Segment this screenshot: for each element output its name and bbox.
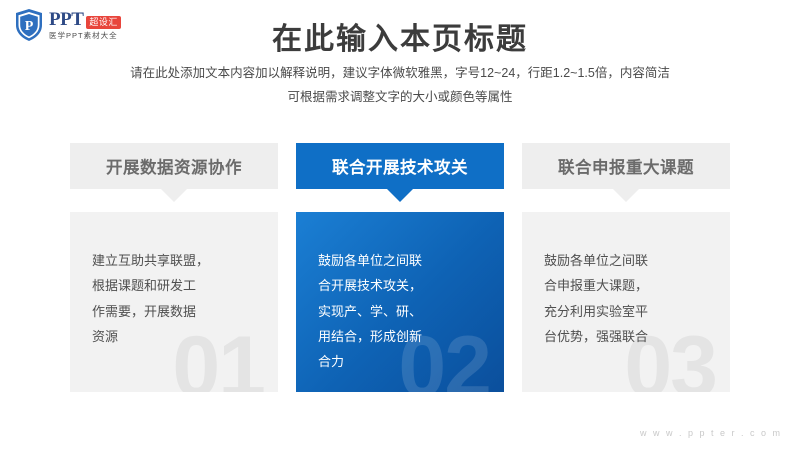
column-3-text: 鼓励各单位之间联 合申报重大课题， 充分利用实验室平 台优势，强强联合 [544, 248, 708, 349]
subtitle-line-1: 请在此处添加文本内容加以解释说明，建议字体微软雅黑，字号12~24，行距1.2~… [0, 62, 800, 86]
column-3-arrow-icon [613, 189, 639, 202]
columns-container: 开展数据资源协作 01 建立互助共享联盟， 根据课题和研发工 作需要，开展数据 … [70, 143, 730, 392]
column-1-text: 建立互助共享联盟， 根据课题和研发工 作需要，开展数据 资源 [92, 248, 256, 349]
column-1-arrow-icon [161, 189, 187, 202]
column-1-heading[interactable]: 开展数据资源协作 [70, 143, 278, 189]
column-2-heading[interactable]: 联合开展技术攻关 [296, 143, 504, 189]
subtitle-line-2: 可根据需求调整文字的大小或颜色等属性 [0, 86, 800, 110]
column-2[interactable]: 联合开展技术攻关 02 鼓励各单位之间联 合开展技术攻关， 实现产、学、研、 用… [296, 143, 504, 392]
column-2-body: 02 鼓励各单位之间联 合开展技术攻关， 实现产、学、研、 用结合，形成创新 合… [296, 212, 504, 392]
column-2-arrow-icon [387, 189, 413, 202]
footer-url: w w w . p p t e r . c o m [640, 428, 782, 438]
column-3[interactable]: 联合申报重大课题 03 鼓励各单位之间联 合申报重大课题， 充分利用实验室平 台… [522, 143, 730, 392]
page-title: 在此输入本页标题 [0, 14, 800, 58]
column-3-body: 03 鼓励各单位之间联 合申报重大课题， 充分利用实验室平 台优势，强强联合 [522, 212, 730, 392]
column-1[interactable]: 开展数据资源协作 01 建立互助共享联盟， 根据课题和研发工 作需要，开展数据 … [70, 143, 278, 392]
column-1-body: 01 建立互助共享联盟， 根据课题和研发工 作需要，开展数据 资源 [70, 212, 278, 392]
column-2-text: 鼓励各单位之间联 合开展技术攻关， 实现产、学、研、 用结合，形成创新 合力 [318, 248, 482, 375]
page-subtitle: 请在此处添加文本内容加以解释说明，建议字体微软雅黑，字号12~24，行距1.2~… [0, 62, 800, 110]
column-3-heading[interactable]: 联合申报重大课题 [522, 143, 730, 189]
